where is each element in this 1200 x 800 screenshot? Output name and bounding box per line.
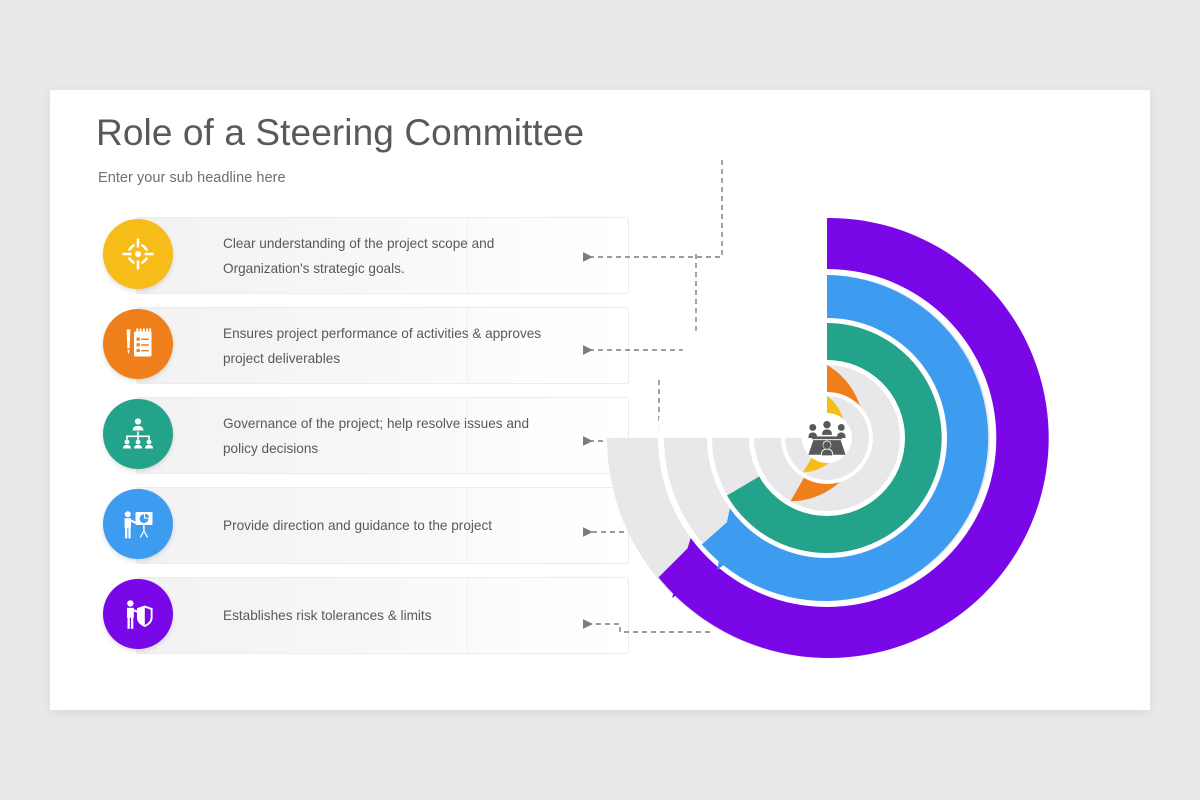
presenter-board-icon-badge xyxy=(103,489,173,559)
page-subtitle: Enter your sub headline here xyxy=(98,170,286,186)
list-item-line2: Organization's strategic goals. xyxy=(223,256,573,281)
presenter-board-icon xyxy=(118,504,158,544)
list-item[interactable]: Establishes risk tolerances & limits xyxy=(96,575,636,656)
list-item-text: Establishes risk tolerances & limits xyxy=(223,575,573,656)
org-chart-icon-badge xyxy=(103,399,173,469)
list-item-text: Governance of the project; help resolve … xyxy=(223,395,573,476)
list-item-line1: Provide direction and guidance to the pr… xyxy=(223,513,573,538)
list-item-line2: project deliverables xyxy=(223,346,573,371)
list-item-text: Provide direction and guidance to the pr… xyxy=(223,485,573,566)
list-item-text: Clear understanding of the project scope… xyxy=(223,215,573,296)
benefit-list: Clear understanding of the project scope… xyxy=(96,215,636,665)
list-item[interactable]: Provide direction and guidance to the pr… xyxy=(96,485,636,566)
person-shield-icon xyxy=(118,594,158,634)
slide-canvas: Role of a Steering Committee Enter your … xyxy=(50,90,1150,710)
org-chart-icon xyxy=(118,414,158,454)
list-item[interactable]: Governance of the project; help resolve … xyxy=(96,395,636,476)
checklist-clipboard-icon xyxy=(118,324,158,364)
person-shield-icon-badge xyxy=(103,579,173,649)
list-item[interactable]: Clear understanding of the project scope… xyxy=(96,215,636,296)
list-item-line1: Establishes risk tolerances & limits xyxy=(223,603,573,628)
page-title: Role of a Steering Committee xyxy=(96,112,584,154)
list-item-line1: Ensures project performance of activitie… xyxy=(223,321,573,346)
target-icon-badge xyxy=(103,219,173,289)
concentric-wheel-diagram xyxy=(577,188,1077,688)
target-icon xyxy=(118,234,158,274)
list-item[interactable]: Ensures project performance of activitie… xyxy=(96,305,636,386)
list-item-text: Ensures project performance of activitie… xyxy=(223,305,573,386)
list-item-line1: Clear understanding of the project scope… xyxy=(223,231,573,256)
checklist-clipboard-icon-badge xyxy=(103,309,173,379)
list-item-line2: policy decisions xyxy=(223,436,573,461)
meeting-table-icon xyxy=(808,421,845,455)
list-item-line1: Governance of the project; help resolve … xyxy=(223,411,573,436)
